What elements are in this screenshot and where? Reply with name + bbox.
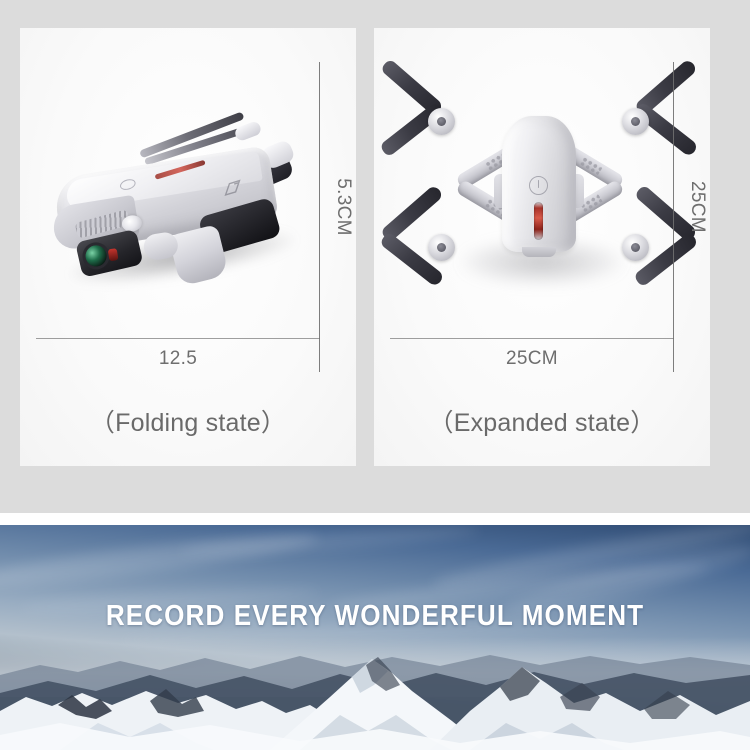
- folded-drone-image: [36, 101, 320, 315]
- spec-panel-expanded: 25CM 25CM （Expanded state）: [374, 28, 710, 466]
- section-separator: [0, 513, 750, 525]
- height-dimension-line: [673, 62, 674, 372]
- height-dimension-line: [319, 62, 320, 372]
- width-dimension-label: 25CM: [390, 348, 674, 370]
- spec-section: 12.5 5.3CM （Folding state）: [0, 0, 750, 513]
- width-dimension-line: [390, 338, 674, 339]
- expanded-drone-image: [414, 56, 664, 314]
- motor-rear-left: [428, 234, 455, 261]
- mountain-range-illustration: [0, 525, 750, 750]
- propeller-hub: [233, 120, 262, 142]
- spec-panels-row: 12.5 5.3CM （Folding state）: [0, 0, 750, 513]
- led-strip-icon: [534, 202, 543, 240]
- spec-panel-folding: 12.5 5.3CM （Folding state）: [20, 28, 356, 466]
- height-dimension-label: 25CM: [686, 172, 708, 242]
- motor-front-right: [622, 108, 649, 135]
- motor-front-left: [428, 108, 455, 135]
- expanded-drone-stage: [374, 28, 710, 338]
- product-spec-page: 12.5 5.3CM （Folding state）: [0, 0, 750, 750]
- panel-caption-expanded: （Expanded state）: [374, 403, 710, 439]
- height-dimension-label: 5.3CM: [332, 172, 354, 242]
- hero-banner: RECORD EVERY WONDERFUL MOMENT: [0, 525, 750, 750]
- drone-tail: [522, 247, 556, 257]
- panel-caption-folding: （Folding state）: [20, 403, 356, 439]
- width-dimension-line: [36, 338, 320, 339]
- folded-drone-stage: [20, 28, 356, 338]
- secondary-lens: [108, 248, 119, 261]
- width-dimension-label: 12.5: [36, 348, 320, 370]
- power-icon: [529, 176, 548, 195]
- motor-rear-right: [622, 234, 649, 261]
